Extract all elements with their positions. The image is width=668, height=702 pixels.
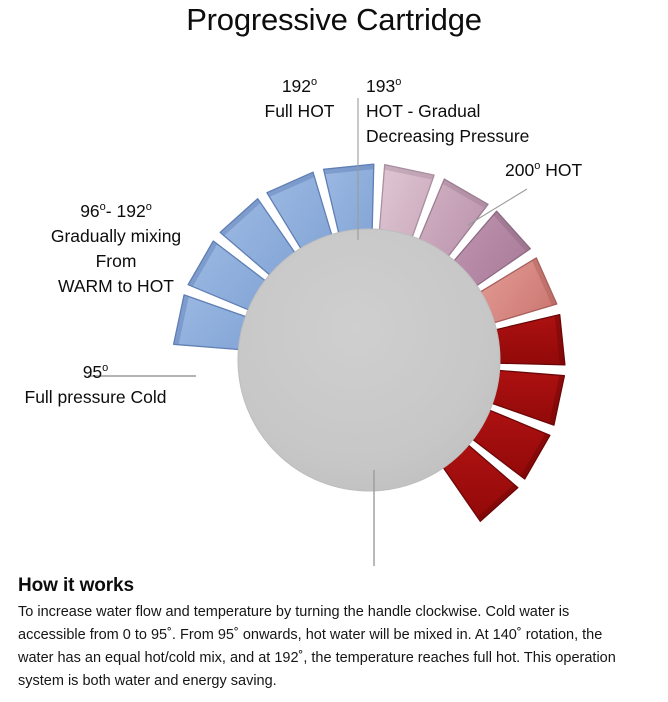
callout-full-hot: 192o Full HOT bbox=[247, 74, 352, 124]
cartridge-hub bbox=[238, 229, 500, 491]
how-it-works-heading: How it works bbox=[18, 575, 638, 597]
callout-gradual-line2: HOT - Gradual bbox=[366, 99, 529, 124]
callout-gradual-line3: Decreasing Pressure bbox=[366, 124, 529, 149]
callout-gradual-temp: 193 bbox=[366, 76, 395, 96]
callout-mixing-start: 96 bbox=[80, 201, 99, 221]
degree-symbol: o bbox=[102, 362, 108, 374]
callout-full-hot-label: Full HOT bbox=[247, 99, 352, 124]
degree-symbol: o bbox=[395, 76, 401, 88]
callout-hot-200-temp: 200 bbox=[505, 160, 534, 180]
callout-mixing-line3: From bbox=[26, 249, 206, 274]
callout-cold-temp: 95 bbox=[83, 362, 102, 382]
how-it-works-body: To increase water flow and temperature b… bbox=[18, 601, 638, 693]
callout-mixing-line2: Gradually mixing bbox=[26, 224, 206, 249]
callout-hot-200-label: HOT bbox=[540, 160, 582, 180]
how-it-works-section: How it works To increase water flow and … bbox=[18, 575, 638, 693]
gauge-segment-9 bbox=[496, 315, 565, 365]
degree-symbol: o bbox=[311, 76, 317, 88]
callout-mixing: 96o- 192o Gradually mixing From WARM to … bbox=[26, 199, 206, 299]
callout-cold-label: Full pressure Cold bbox=[8, 385, 183, 410]
gauge-segment-4 bbox=[324, 164, 374, 233]
degree-symbol: o bbox=[146, 201, 152, 213]
callout-mixing-end: 192 bbox=[116, 201, 145, 221]
callout-full-hot-temp: 192 bbox=[282, 76, 311, 96]
callout-cold: 95o Full pressure Cold bbox=[8, 360, 183, 410]
page-root: Progressive Cartridge bbox=[0, 0, 668, 702]
callout-hot-200: 200o HOT bbox=[505, 158, 582, 183]
callout-gradual: 193o HOT - Gradual Decreasing Pressure bbox=[366, 74, 529, 149]
callout-mixing-dash: - bbox=[106, 201, 117, 221]
callout-mixing-line4: WARM to HOT bbox=[26, 274, 206, 299]
